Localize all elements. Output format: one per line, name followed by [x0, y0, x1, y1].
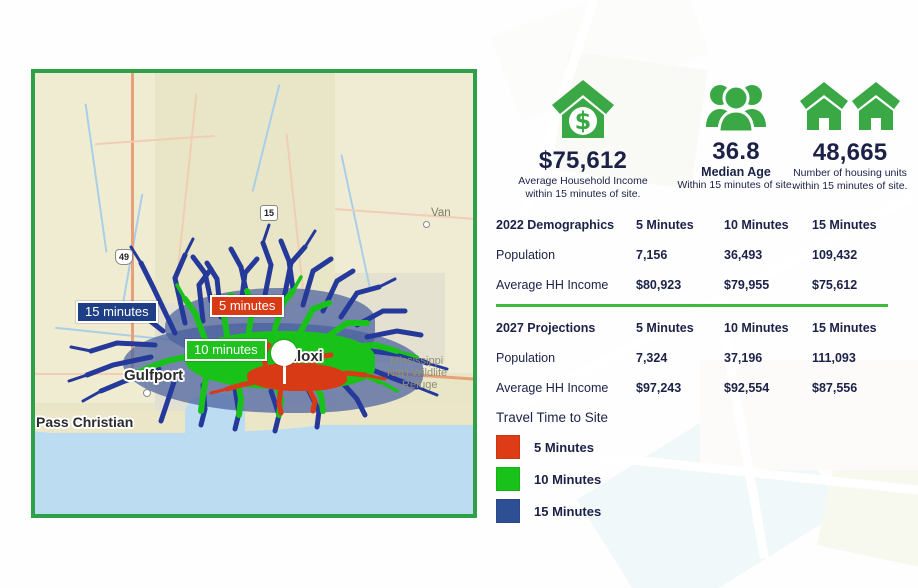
stat-caption-income-line1: Average Household Income [490, 175, 676, 188]
map-legend: Travel Time to Site 5 Minutes 10 Minutes… [496, 410, 756, 531]
cell-income-15min: $75,612 [812, 270, 900, 300]
map-place-label-pass-christian: Pass Christian [36, 414, 133, 430]
stat-card-income: $ $75,612 Average Household Income withi… [490, 78, 676, 200]
table-divider [496, 304, 888, 307]
map-place-label-van: Van [431, 207, 451, 219]
summary-stats: $ $75,612 Average Household Income withi… [490, 68, 910, 203]
cell-income-10min: $79,955 [724, 270, 812, 300]
legend-swatch-15-minutes [496, 499, 520, 523]
demographics-tables: 2022 Demographics 5 Minutes 10 Minutes 1… [496, 210, 910, 403]
cell-population-15min: 109,432 [812, 240, 900, 270]
info-panel: $ $75,612 Average Household Income withi… [490, 60, 910, 540]
row-label-population-proj: Population [496, 343, 636, 373]
map-city-dot-van [423, 221, 430, 228]
map-area-label-refuge: Refuge [402, 379, 437, 391]
drive-time-map[interactable]: 49 15 Mississippi Nat'l Wildlife Refuge … [31, 69, 477, 518]
cell-income-proj-15min: $87,556 [812, 373, 900, 403]
row-label-population: Population [496, 240, 636, 270]
table-header-row: 2027 Projections 5 Minutes 10 Minutes 15… [496, 313, 900, 343]
table-row: Average HH Income $80,923 $79,955 $75,61… [496, 270, 900, 300]
stat-card-median-age: 36.8 Median Age Within 15 minutes of sit… [676, 82, 796, 191]
table-2027-projections: 2027 Projections 5 Minutes 10 Minutes 15… [496, 313, 900, 403]
table-title-2022: 2022 Demographics [496, 210, 636, 240]
cell-population-5min: 7,156 [636, 240, 724, 270]
col-header-15min-proj: 15 Minutes [812, 313, 900, 343]
cell-population-10min: 36,493 [724, 240, 812, 270]
table-title-2027: 2027 Projections [496, 313, 636, 343]
map-chip-5-minutes[interactable]: 5 minutes [210, 295, 284, 317]
site-marker[interactable] [271, 340, 297, 366]
map-place-label-gulfport: Gulfport [124, 367, 183, 384]
table-header-row: 2022 Demographics 5 Minutes 10 Minutes 1… [496, 210, 900, 240]
legend-label-5-minutes: 5 Minutes [534, 440, 594, 455]
cell-income-proj-10min: $92,554 [724, 373, 812, 403]
stat-card-housing-units: 48,665 Number of housing units within 15… [790, 80, 910, 192]
map-area-label-natl-wildlife: Nat'l Wildlife [387, 367, 447, 379]
map-chip-15-minutes[interactable]: 15 minutes [76, 301, 158, 323]
stat-caption-median-age-line2: Within 15 minutes of site. [676, 179, 796, 192]
cell-population-proj-15min: 111,093 [812, 343, 900, 373]
table-2022-demographics: 2022 Demographics 5 Minutes 10 Minutes 1… [496, 210, 900, 300]
stat-value-housing-units: 48,665 [790, 139, 910, 167]
col-header-5min-proj: 5 Minutes [636, 313, 724, 343]
col-header-15min: 15 Minutes [812, 210, 900, 240]
legend-swatch-5-minutes [496, 435, 520, 459]
svg-text:$: $ [575, 107, 592, 135]
legend-label-10-minutes: 10 Minutes [534, 472, 601, 487]
cell-population-proj-10min: 37,196 [724, 343, 812, 373]
legend-item-10-minutes[interactable]: 10 Minutes [496, 467, 756, 491]
legend-swatch-10-minutes [496, 467, 520, 491]
stat-caption-housing-line2: within 15 minutes of site. [790, 180, 910, 193]
cell-income-proj-5min: $97,243 [636, 373, 724, 403]
row-label-avg-hh-income-proj: Average HH Income [496, 373, 636, 403]
legend-label-15-minutes: 15 Minutes [534, 504, 601, 519]
people-group-icon [676, 82, 796, 137]
map-chip-10-minutes[interactable]: 10 minutes [185, 339, 267, 361]
stat-caption-housing-line1: Number of housing units [790, 167, 910, 180]
two-houses-icon [790, 80, 910, 137]
stat-value-income: $75,612 [490, 147, 676, 175]
cell-population-proj-5min: 7,324 [636, 343, 724, 373]
row-label-avg-hh-income: Average HH Income [496, 270, 636, 300]
stat-caption-income-line2: within 15 minutes of site. [490, 188, 676, 201]
map-city-dot-gulfport [143, 389, 151, 397]
highway-shield-49: 49 [115, 249, 133, 265]
legend-item-5-minutes[interactable]: 5 Minutes [496, 435, 756, 459]
map-area-label-mississippi: Mississippi [390, 355, 443, 367]
legend-item-15-minutes[interactable]: 15 Minutes [496, 499, 756, 523]
table-row: Average HH Income $97,243 $92,554 $87,55… [496, 373, 900, 403]
stat-value-median-age: 36.8 [676, 138, 796, 166]
highway-shield-15: 15 [260, 205, 278, 221]
house-dollar-icon: $ [490, 78, 676, 145]
cell-income-5min: $80,923 [636, 270, 724, 300]
map-canvas[interactable]: 49 15 Mississippi Nat'l Wildlife Refuge … [35, 73, 473, 514]
table-row: Population 7,324 37,196 111,093 [496, 343, 900, 373]
col-header-10min-proj: 10 Minutes [724, 313, 812, 343]
site-marker-dot [271, 340, 297, 366]
col-header-10min: 10 Minutes [724, 210, 812, 240]
stat-caption-median-age-line1: Median Age [676, 166, 796, 179]
col-header-5min: 5 Minutes [636, 210, 724, 240]
drive-time-5-spokes [35, 73, 473, 514]
legend-title: Travel Time to Site [496, 410, 756, 425]
table-row: Population 7,156 36,493 109,432 [496, 240, 900, 270]
